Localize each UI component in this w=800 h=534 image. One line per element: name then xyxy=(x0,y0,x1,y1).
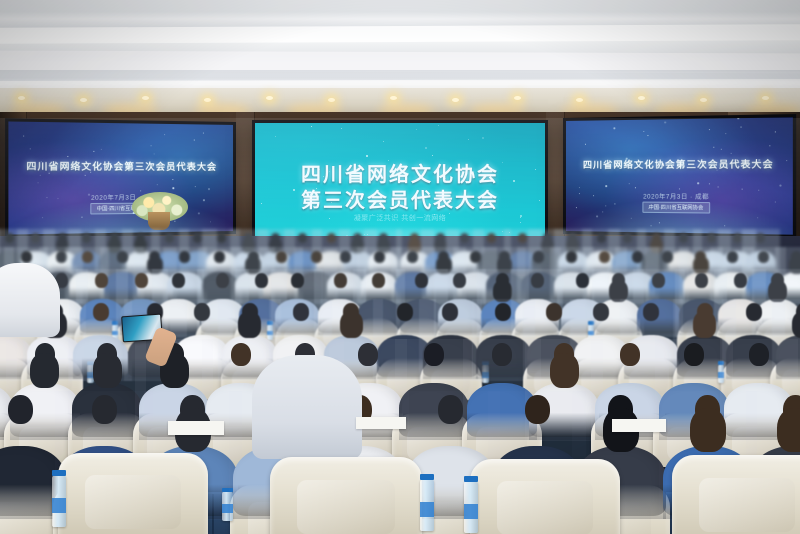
downlight xyxy=(204,98,211,102)
downlight xyxy=(328,98,335,102)
water-bottle xyxy=(464,481,478,533)
star-particle xyxy=(482,137,484,139)
star-particle xyxy=(468,139,469,140)
star-particle xyxy=(438,125,439,126)
star-particle xyxy=(172,179,173,180)
ceiling-shadow xyxy=(0,70,800,82)
star-particle xyxy=(366,155,368,157)
downlight xyxy=(762,96,769,100)
star-particle xyxy=(643,131,644,132)
star-particle xyxy=(67,156,68,157)
conference-hall-photo: 四川省网络文化协会第三次会员代表大会 2020年7月3日 · 成都 中国·四川省… xyxy=(0,0,800,534)
star-particle xyxy=(101,148,102,149)
star-particle xyxy=(758,190,759,191)
star-particle xyxy=(709,129,710,130)
star-particle xyxy=(770,145,771,146)
document-paper xyxy=(612,419,666,432)
star-particle xyxy=(311,126,312,127)
star-particle xyxy=(93,151,94,152)
star-particle xyxy=(40,175,41,176)
star-particle xyxy=(738,117,740,119)
downlight xyxy=(514,96,521,100)
downlight xyxy=(576,98,583,102)
star-particle xyxy=(585,144,586,145)
star-particle xyxy=(579,187,580,188)
star-particle xyxy=(713,146,714,147)
chair-cover xyxy=(270,457,422,534)
star-particle xyxy=(195,186,196,187)
star-particle xyxy=(275,136,276,137)
document-paper xyxy=(356,417,406,429)
star-particle xyxy=(23,135,24,136)
star-particle xyxy=(151,145,152,146)
star-particle xyxy=(613,128,615,130)
downlight xyxy=(80,98,87,102)
star-particle xyxy=(38,182,39,183)
left-screen-title: 四川省网络文化协会第三次会员代表大会 xyxy=(5,159,236,173)
chair-cover xyxy=(672,455,800,534)
attendee-shirt-rockets xyxy=(0,263,60,337)
downlight xyxy=(700,98,707,102)
attendee-shirt-kmt xyxy=(252,355,362,459)
document-paper xyxy=(168,421,224,435)
star-particle xyxy=(740,127,741,128)
star-particle xyxy=(634,187,635,188)
star-particle xyxy=(647,135,648,136)
star-particle xyxy=(709,183,710,184)
star-particle xyxy=(425,147,427,149)
star-particle xyxy=(725,133,726,134)
star-particle xyxy=(731,153,732,154)
star-particle xyxy=(341,128,342,129)
star-particle xyxy=(605,185,607,187)
left-led-screen: 四川省网络文化协会第三次会员代表大会 2020年7月3日 · 成都 中国·四川省… xyxy=(5,118,236,238)
star-particle xyxy=(194,140,195,141)
star-particle xyxy=(164,134,165,135)
star-particle xyxy=(203,132,204,133)
center-screen-title-line2: 第三次会员代表大会 xyxy=(252,184,548,213)
star-particle xyxy=(629,183,630,184)
bottle-cap xyxy=(52,470,66,476)
bottle-cap xyxy=(420,474,434,480)
water-bottle xyxy=(52,475,66,527)
downlight xyxy=(638,96,645,100)
chair-cover xyxy=(58,453,208,534)
star-particle xyxy=(697,182,699,184)
star-particle xyxy=(664,121,666,123)
downlight xyxy=(18,96,25,100)
ceiling-band xyxy=(0,24,800,44)
star-particle xyxy=(233,144,235,146)
star-particle xyxy=(779,185,781,187)
star-particle xyxy=(85,175,86,176)
star-particle xyxy=(679,189,680,190)
star-particle xyxy=(645,118,646,119)
star-particle xyxy=(775,132,776,133)
center-screen-subtitle: 凝聚广泛共识 共创一流网络 xyxy=(252,213,548,223)
right-led-screen: 四川省网络文化协会第三次会员代表大会 2020年7月3日 · 成都 中国·四川省… xyxy=(563,114,796,238)
star-particle xyxy=(416,129,417,130)
audience-seating xyxy=(0,225,800,534)
downlight xyxy=(452,98,459,102)
star-particle xyxy=(721,149,722,150)
star-particle xyxy=(717,186,718,187)
star-particle xyxy=(741,189,742,190)
star-particle xyxy=(208,188,210,190)
downlight xyxy=(390,96,397,100)
star-particle xyxy=(432,155,433,156)
star-particle xyxy=(48,173,49,174)
right-screen-title: 四川省网络文化协会第三次会员代表大会 xyxy=(563,157,796,171)
center-screen-title-line1: 四川省网络文化协会 xyxy=(252,158,548,187)
water-bottle xyxy=(420,479,434,531)
downlight xyxy=(266,96,273,100)
star-particle xyxy=(29,148,30,149)
downlight xyxy=(142,96,149,100)
chair-cover xyxy=(470,459,620,534)
bottle-cap xyxy=(464,476,478,482)
star-particle xyxy=(172,187,174,189)
star-particle xyxy=(383,141,384,142)
star-particle xyxy=(154,153,155,154)
star-particle xyxy=(157,184,158,185)
